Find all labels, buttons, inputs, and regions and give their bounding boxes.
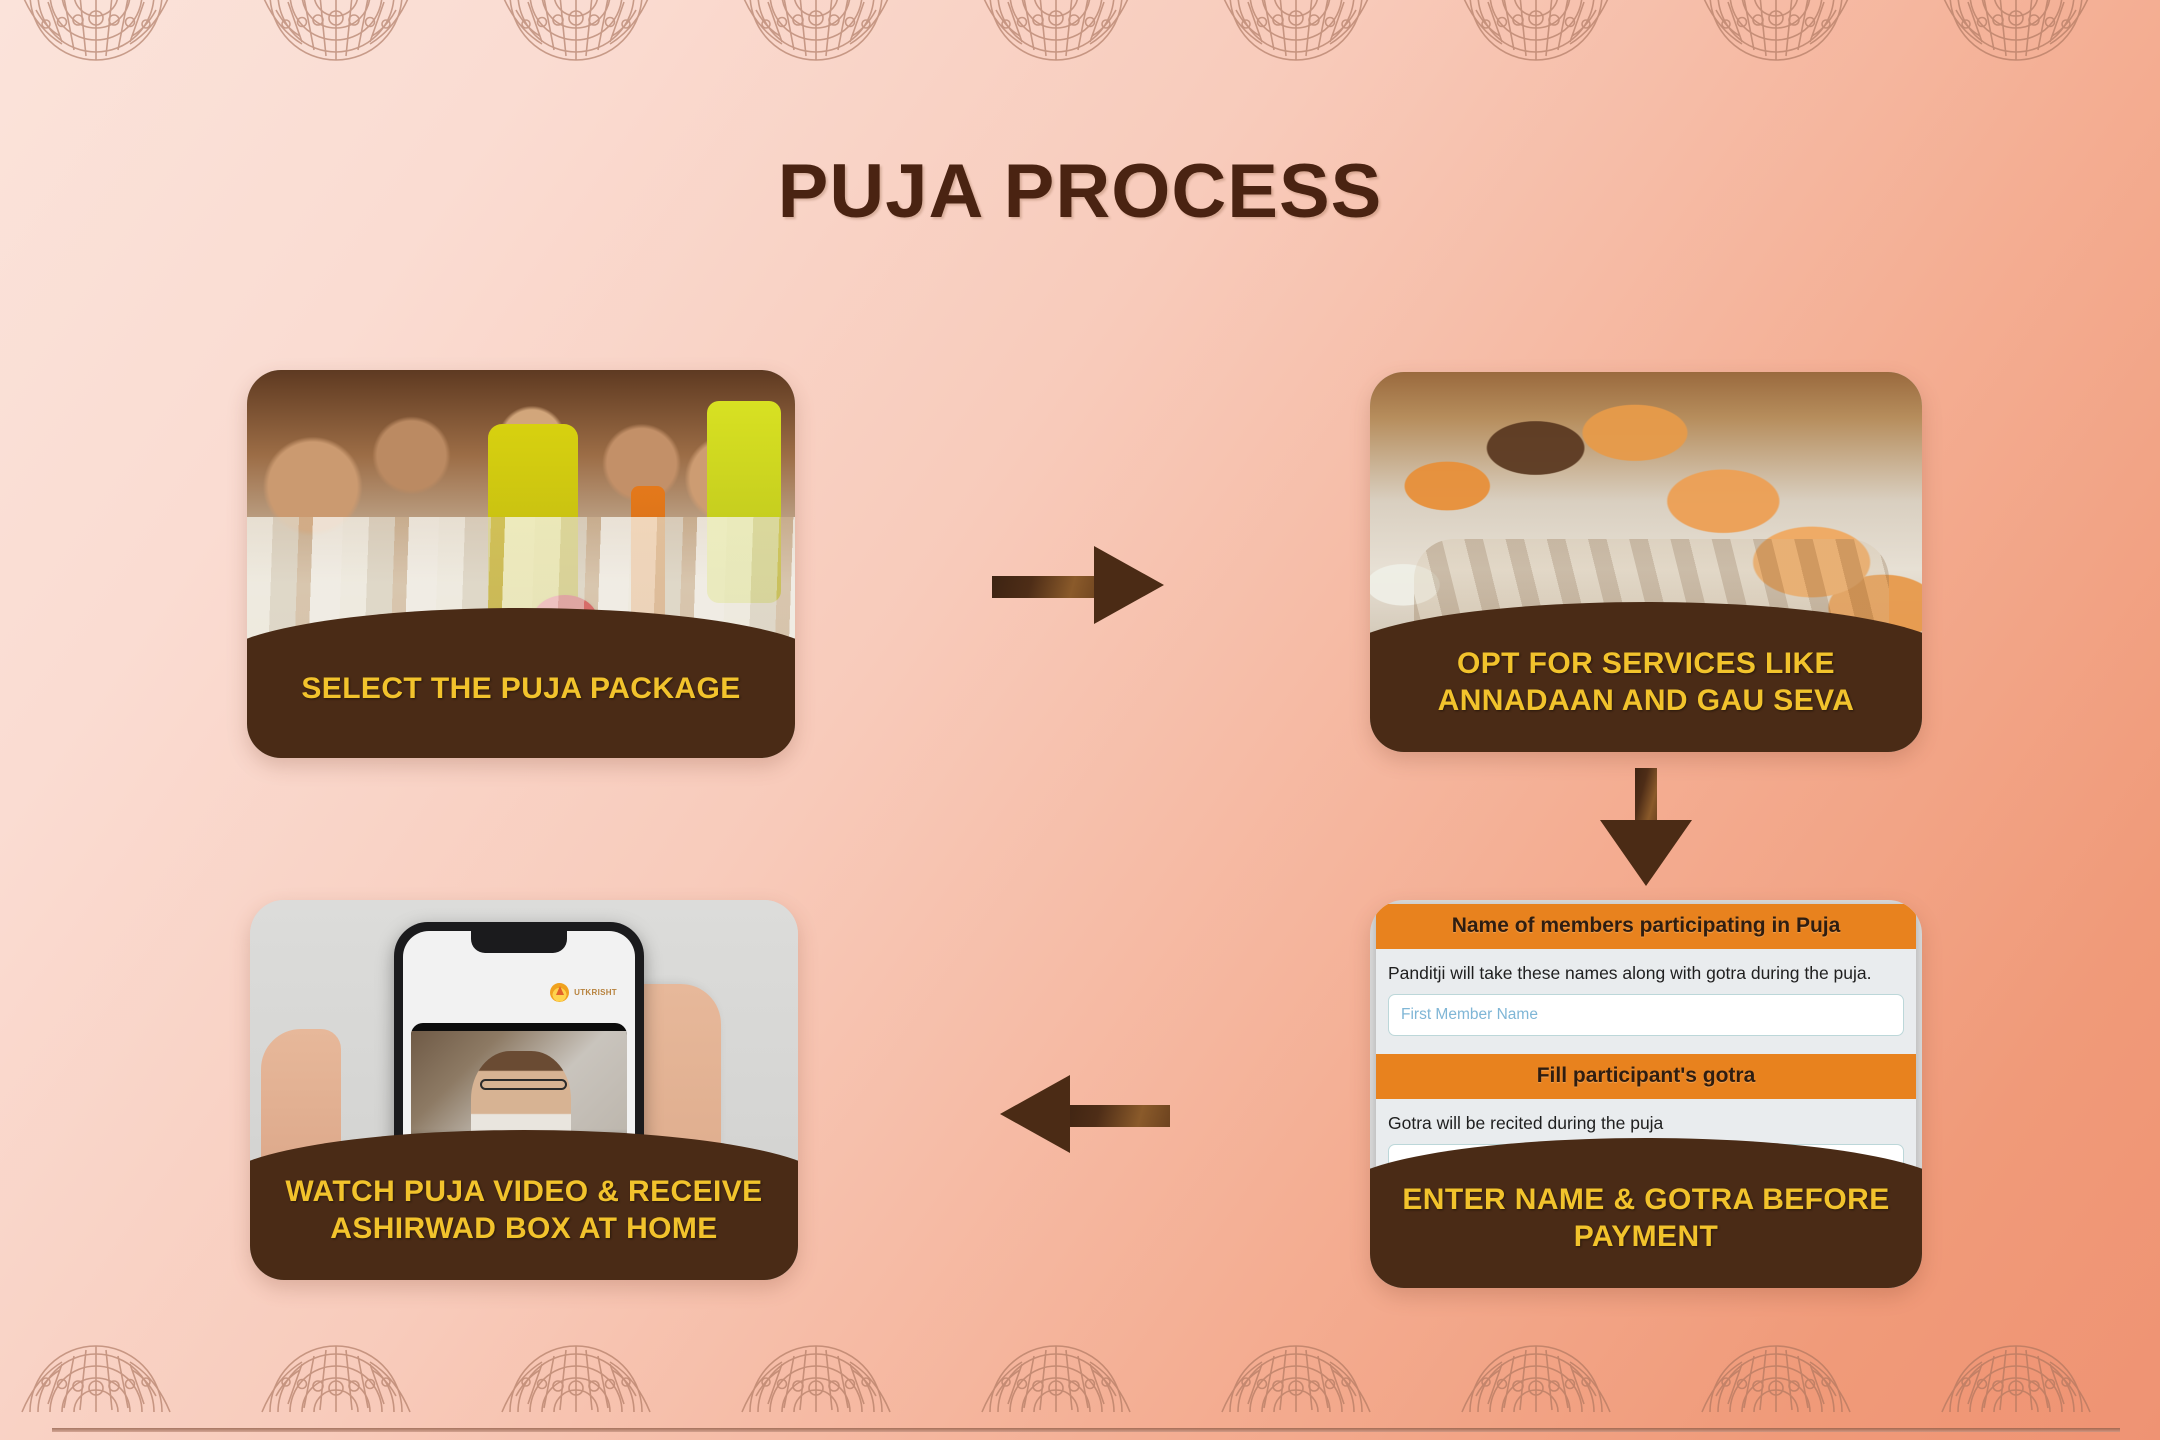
arrow-step2-to-step3-icon	[1598, 768, 1694, 886]
step-1-caption-text: SELECT THE PUJA PACKAGE	[301, 671, 740, 708]
step-card-4[interactable]: UTKRISHT 0:22 / 1:00 🔈	[250, 900, 798, 1280]
flame-logo-icon	[550, 983, 569, 1002]
arrow-step3-to-step4-icon	[1000, 1068, 1170, 1160]
arrow-step1-to-step2-icon	[992, 540, 1162, 630]
phone-notch	[471, 931, 567, 953]
step-3-caption-text: ENTER NAME & GOTRA BEFORE PAYMENT	[1392, 1182, 1900, 1255]
members-section-header: Name of members participating in Puja	[1376, 904, 1916, 949]
step-card-1[interactable]: SELECT THE PUJA PACKAGE	[247, 370, 795, 758]
brand-name: UTKRISHT	[574, 988, 617, 997]
bottom-rule	[52, 1428, 2120, 1432]
step-card-2[interactable]: OPT FOR SERVICES LIKE ANNADAAN AND GAU S…	[1370, 372, 1922, 752]
step-3-caption: ENTER NAME & GOTRA BEFORE PAYMENT	[1370, 1138, 1922, 1288]
step-2-caption: OPT FOR SERVICES LIKE ANNADAAN AND GAU S…	[1370, 602, 1922, 752]
poster-canvas: PUJA PROCESS SELECT THE PUJA PACKAGE OPT…	[0, 0, 2160, 1440]
mandala-border-bottom-icon	[0, 1326, 2160, 1426]
members-note: Panditji will take these names along wit…	[1376, 949, 1916, 994]
first-member-name-input[interactable]: First Member Name	[1388, 994, 1904, 1036]
step-card-3[interactable]: Name of members participating in Puja Pa…	[1370, 900, 1922, 1288]
mandala-border-top-icon	[0, 0, 2160, 94]
gotra-section-header: Fill participant's gotra	[1376, 1054, 1916, 1099]
step-1-caption: SELECT THE PUJA PACKAGE	[247, 608, 795, 758]
step-2-caption-text: OPT FOR SERVICES LIKE ANNADAAN AND GAU S…	[1392, 646, 1900, 719]
page-title: PUJA PROCESS	[0, 148, 2160, 235]
glasses	[480, 1079, 566, 1090]
app-brand: UTKRISHT	[550, 983, 617, 1002]
step-4-caption-text: WATCH PUJA VIDEO & RECEIVE ASHIRWAD BOX …	[272, 1174, 776, 1247]
step-4-caption: WATCH PUJA VIDEO & RECEIVE ASHIRWAD BOX …	[250, 1130, 798, 1280]
